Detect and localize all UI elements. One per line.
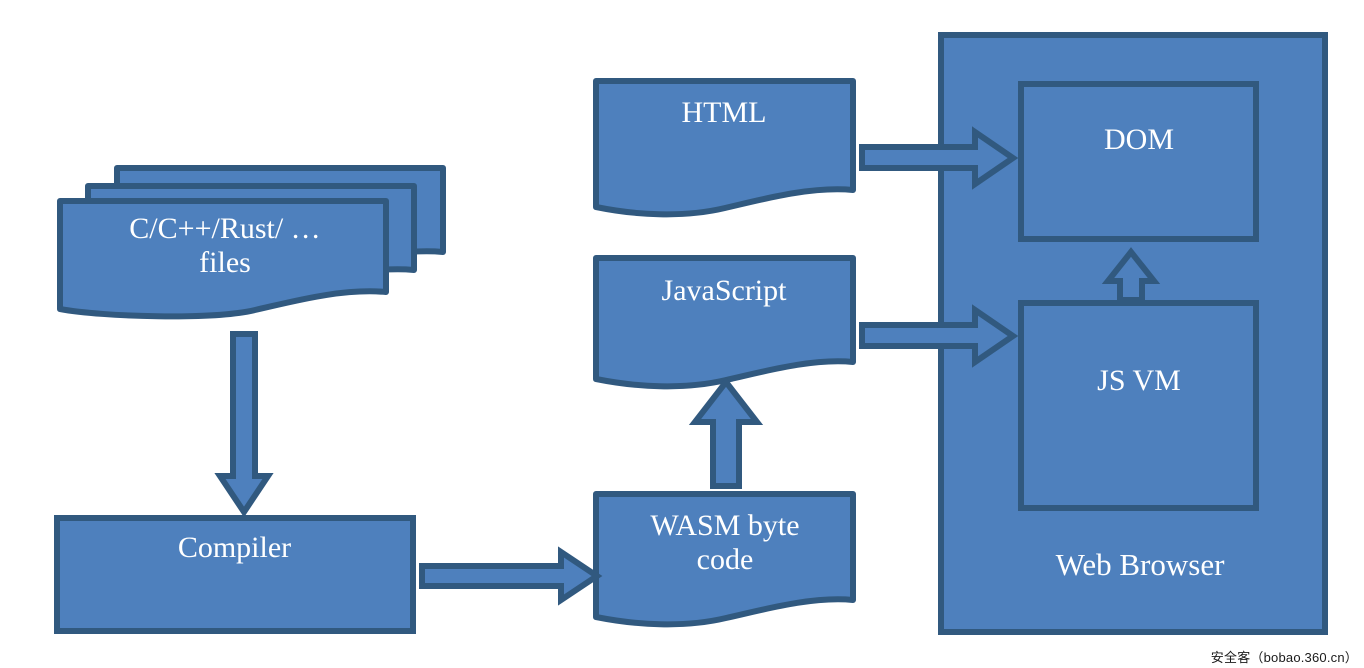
dom-box [1021,84,1256,239]
wasm-shape [596,494,853,624]
compiler-box [57,518,413,631]
watermark-text: 安全客（bobao.360.cn） [1211,647,1358,666]
arrow-javascript-to-jsvm [862,310,1013,362]
diagram-canvas [0,0,1364,668]
arrow-sources-to-compiler [220,334,268,512]
javascript-shape [596,258,853,386]
arrow-compiler-to-wasm [422,552,597,600]
jsvm-box [1021,303,1256,508]
arrow-html-to-dom [862,132,1013,184]
html-shape [596,81,853,214]
arrow-wasm-to-javascript [695,382,757,486]
sources-shape-front [60,201,386,316]
